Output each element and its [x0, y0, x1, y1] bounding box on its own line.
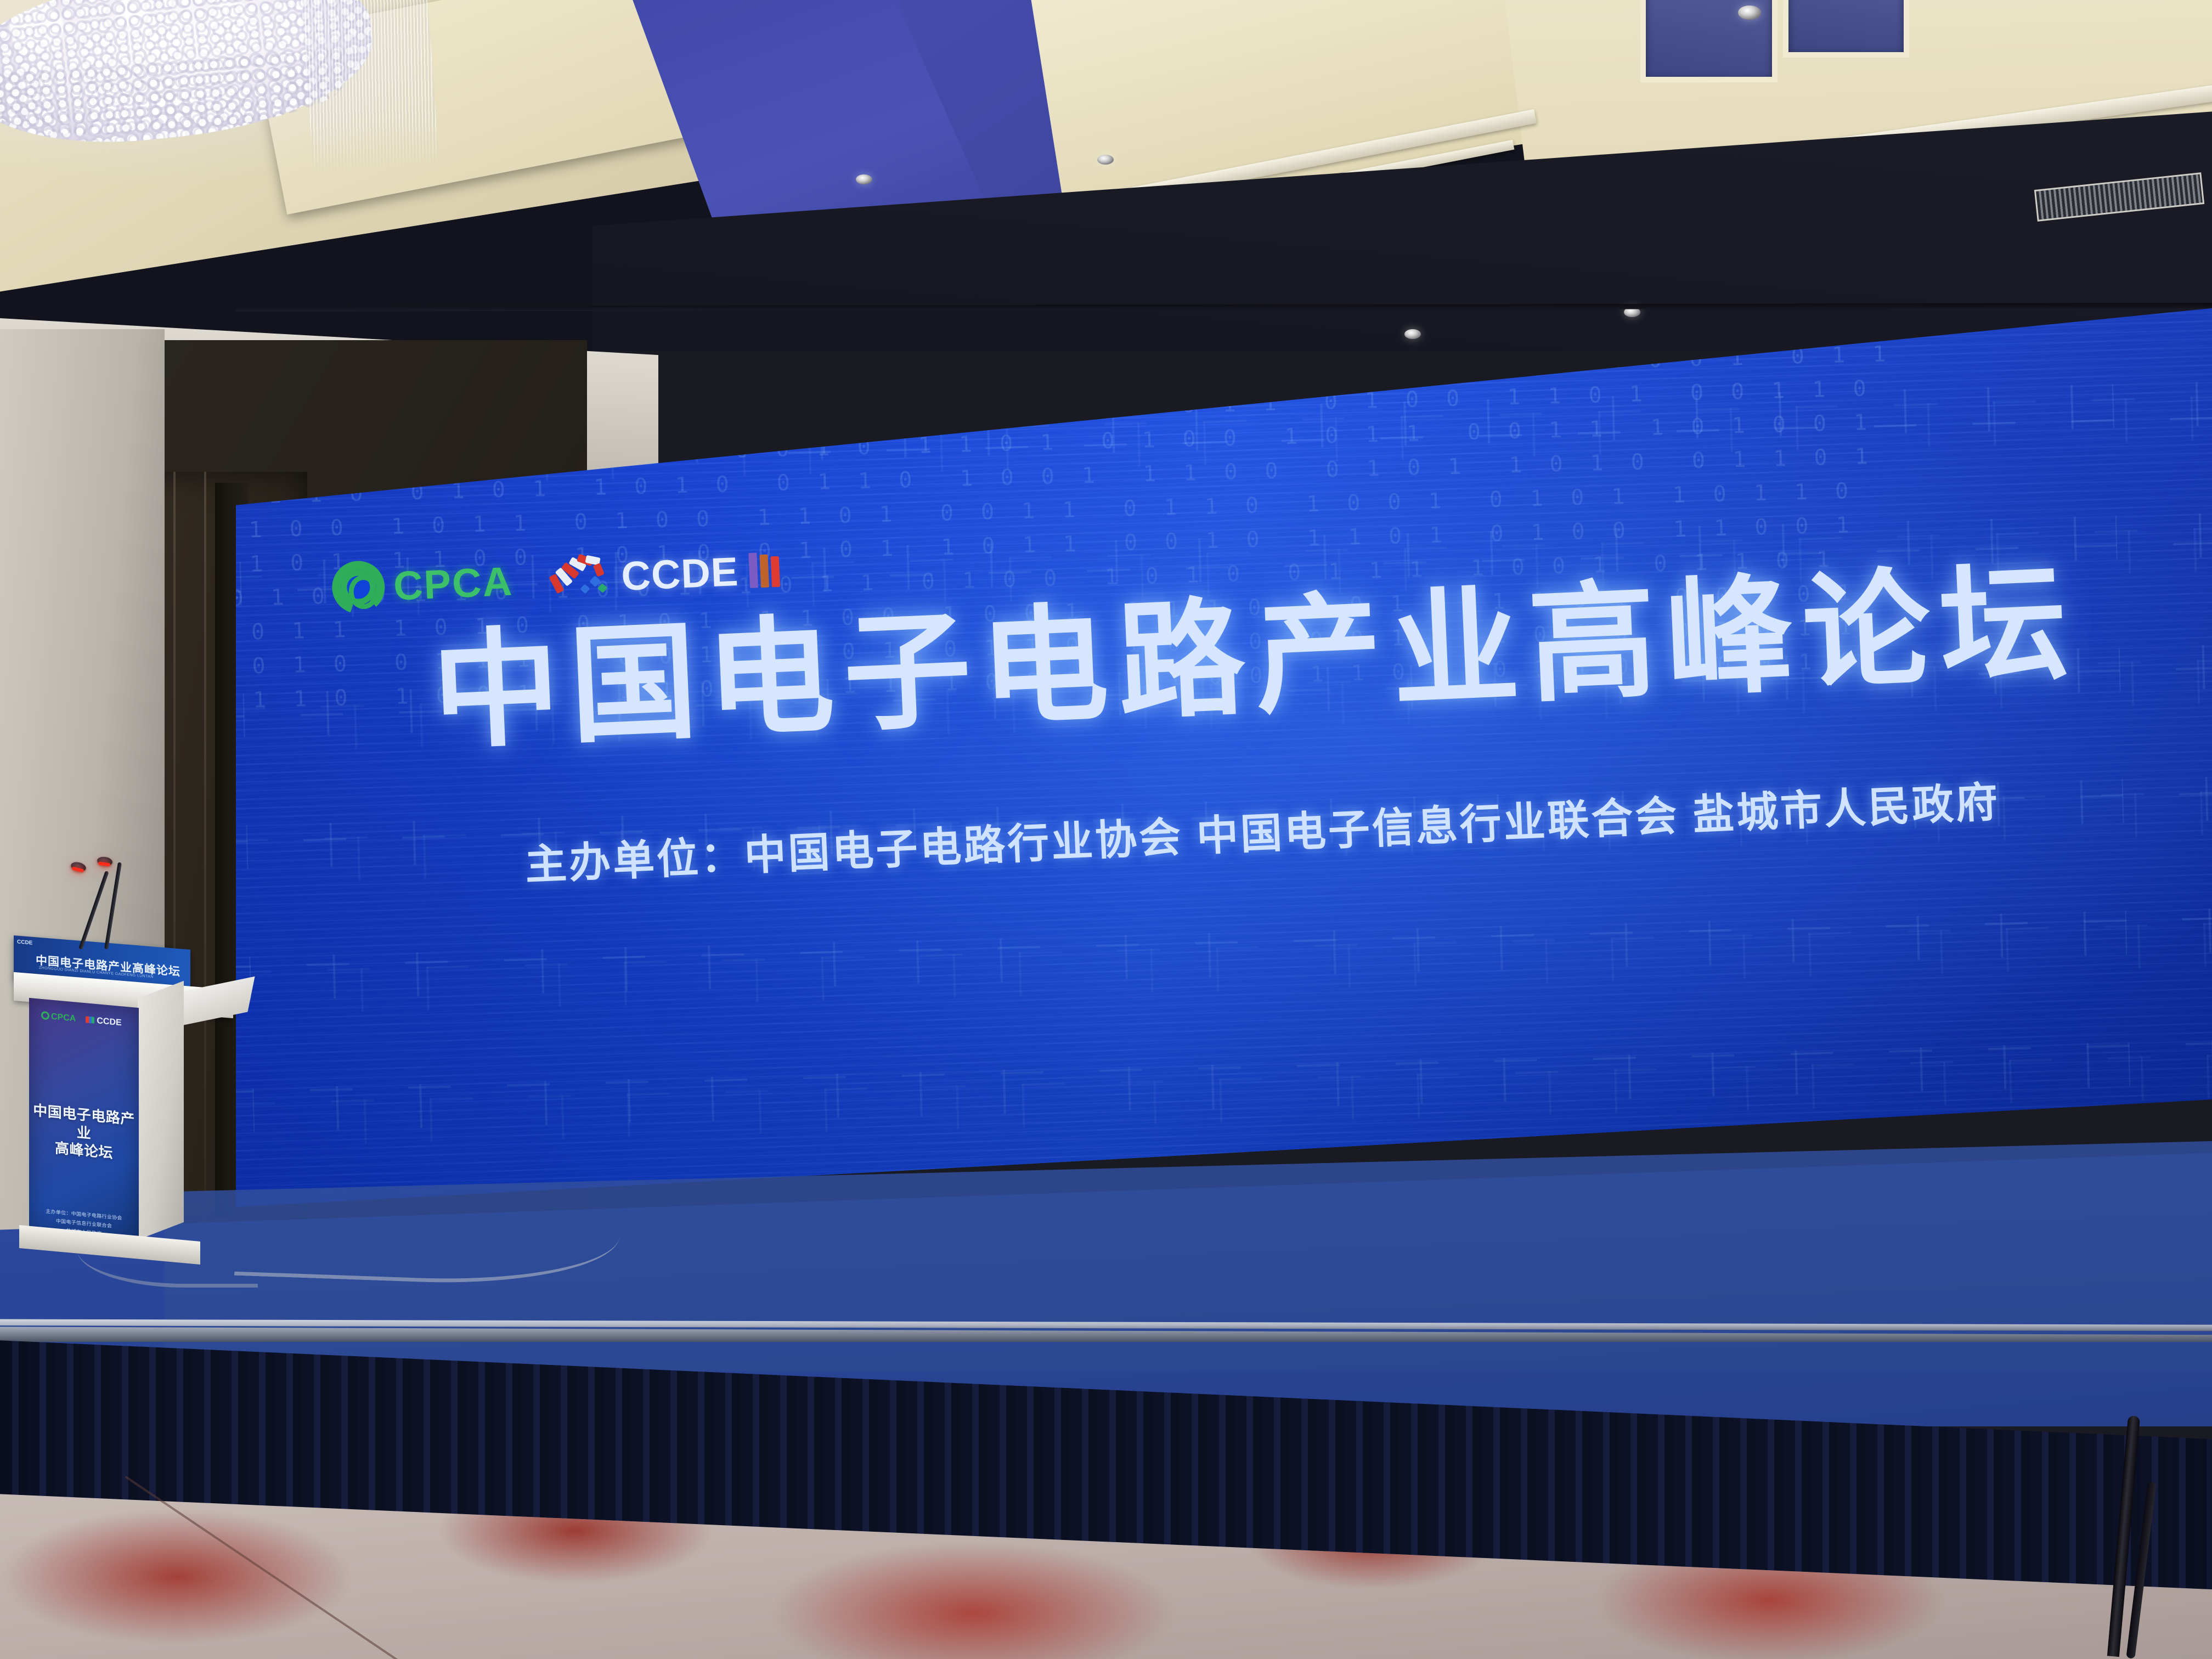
lectern-logo-row: CPCA CCDE: [41, 1011, 134, 1029]
lectern-cpca-wordmark: CPCA: [51, 1012, 76, 1024]
downlight-icon: [1097, 155, 1114, 165]
cpca-wordmark: CPCA: [392, 557, 513, 609]
lectern-side-panel: [138, 981, 184, 1240]
ccde-emblem-icon: [548, 550, 615, 606]
chandelier-strands: [301, 0, 439, 174]
cpca-emblem-icon: [331, 560, 386, 615]
ccde-logo: CCDE: [548, 543, 781, 606]
downlight-icon: [1404, 329, 1421, 339]
ceiling-recess-right: [1783, 0, 1909, 58]
lectern-ccde-logo: CCDE: [86, 1015, 121, 1028]
ccde-wordmark: CCDE: [620, 548, 740, 599]
lectern-ccde-wordmark: CCDE: [97, 1016, 121, 1028]
downlight-icon: [1738, 5, 1761, 20]
cpca-c-shape: [348, 574, 379, 610]
led-logo-row: CPCA CCDE: [331, 543, 781, 615]
led-subtitle: 主办单位：中国电子电路行业协会 中国电子信息行业联合会 盐城市人民政府: [335, 760, 2190, 899]
downlight-icon: [856, 174, 872, 184]
lectern-front-panel: CPCA CCDE 中国电子电路产业 高峰论坛 主办单位：中国电子电路行业协会 …: [29, 998, 139, 1244]
lectern-sign-logo: CCDE: [17, 939, 32, 946]
ccde-emblem-icon: [86, 1016, 94, 1023]
cpca-emblem-icon: [41, 1011, 49, 1020]
lectern[interactable]: CCDE 中国电子电路产业高峰论坛 ZHONGGUO DIANZI DIANLU…: [14, 933, 250, 1262]
conference-stage-photo: 0 1 00110 1 0 1 01 1 0 0 1 10 01 1 0 011…: [0, 0, 2212, 1659]
lectern-cpca-logo: CPCA: [41, 1011, 76, 1024]
ccde-bars-icon: [749, 552, 781, 588]
lectern-title: 中国电子电路产业 高峰论坛: [29, 1101, 139, 1165]
cpca-logo: CPCA: [331, 555, 513, 615]
